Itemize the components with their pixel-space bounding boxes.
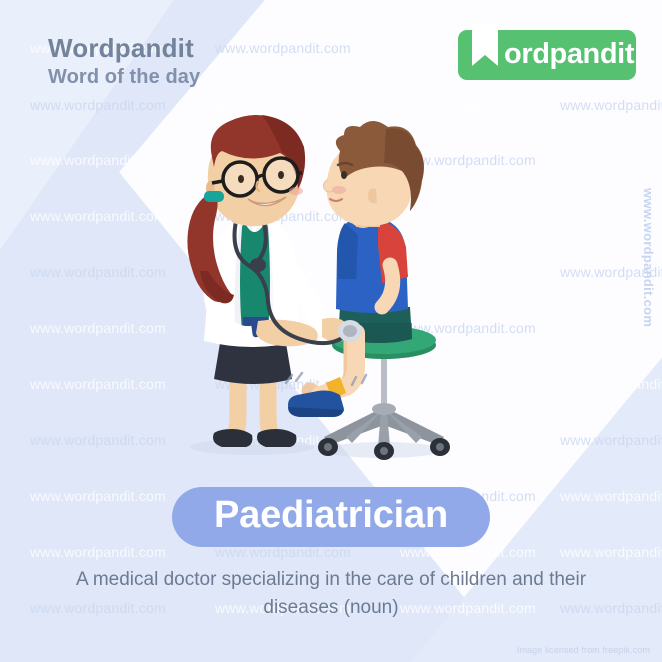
bookmark-w-icon (472, 24, 498, 70)
word-badge: Paediatrician (172, 487, 490, 547)
word-of-the-day-card: www.wordpandit.comwww.wordpandit.comwww.… (0, 0, 662, 662)
doctor-eye-right (278, 171, 284, 179)
doctor-head (206, 115, 305, 226)
brand-subtitle: Word of the day (48, 65, 200, 90)
word-term: Paediatrician (214, 496, 448, 534)
wordpandit-logo[interactable]: ordpandit (458, 30, 636, 80)
hair-tie (204, 191, 224, 202)
illustration-paediatrician-examining-boy (0, 95, 662, 485)
stethoscope-chestpiece (338, 320, 362, 342)
boy (288, 121, 424, 417)
boy-eye (341, 171, 347, 179)
word-definition: A medical doctor specializing in the car… (38, 566, 624, 621)
doctor-shoe-left (213, 429, 252, 447)
boy-cheek (332, 186, 346, 194)
doctor-cheek (289, 187, 303, 195)
stethoscope-junction (250, 258, 266, 272)
doctor-eye-left (238, 175, 244, 183)
brand-name: Wordpandit (48, 34, 200, 63)
brand-block: Wordpandit Word of the day (48, 34, 200, 90)
logo-text: ordpandit (504, 40, 634, 71)
image-credit: Image licensed from freepik.com (517, 645, 650, 655)
boy-head (323, 121, 424, 226)
doctor-shoe-right (257, 429, 296, 447)
